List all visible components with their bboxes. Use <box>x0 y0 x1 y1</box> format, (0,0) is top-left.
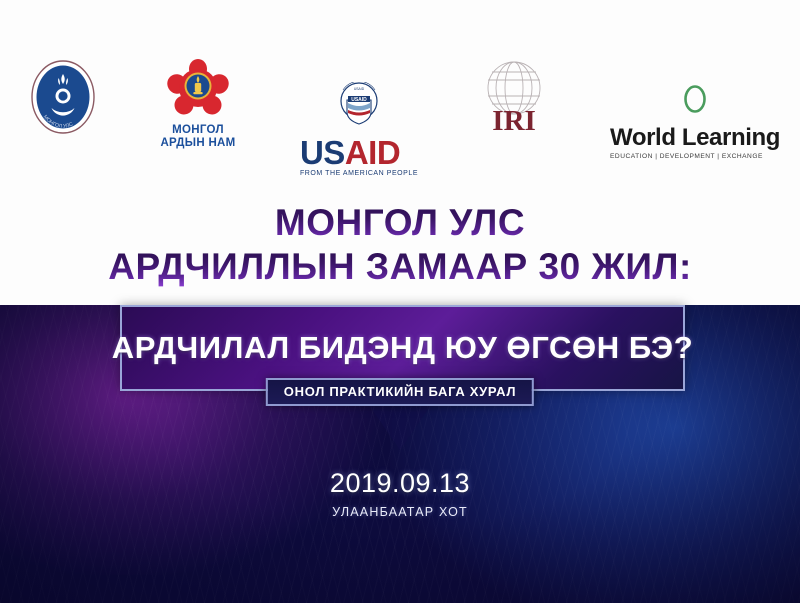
logo-mongolian-peoples-party: МОНГОЛ АРДЫН НАМ <box>153 58 243 150</box>
logo-president-seal: МОНГОЛ УЛС <box>30 58 96 136</box>
svg-text:USAID: USAID <box>351 97 367 103</box>
usaid-tagline: FROM THE AMERICAN PEOPLE <box>300 170 418 177</box>
world-learning-text-block: World Learning EDUCATION | DEVELOPMENT |… <box>610 126 780 160</box>
logo-band: МОНГОЛ УЛС <box>0 0 800 305</box>
mpp-label: МОНГОЛ АРДЫН НАМ <box>160 124 235 150</box>
usaid-shield-icon: USAID USAID <box>339 82 379 131</box>
sponsor-logo-row: МОНГОЛ УЛС <box>30 58 780 168</box>
world-learning-ring-icon <box>682 84 708 119</box>
headline-line-1: МОНГОЛ УЛС <box>0 204 800 243</box>
subtitle-text: АРДЧИЛАЛ БИДЭНД ЮУ ӨГСӨН БЭ? <box>112 330 693 366</box>
usaid-wordmark: USAID <box>300 138 418 168</box>
event-city: УЛААНБААТАР ХОТ <box>0 505 800 519</box>
mongolia-state-seal-icon: МОНГОЛ УЛС <box>30 58 96 136</box>
world-learning-wordmark: World Learning <box>610 126 780 150</box>
logo-world-learning: World Learning EDUCATION | DEVELOPMENT |… <box>610 58 780 160</box>
headline-line-2: АРДЧИЛЛЫН ЗАМААР 30 ЖИЛ: <box>0 248 800 287</box>
event-date: 2019.09.13 <box>0 468 800 499</box>
logo-iri: IRI <box>475 58 553 144</box>
conference-type-badge: ОНОЛ ПРАКТИКИЙН БАГА ХУРАЛ <box>266 378 534 406</box>
logo-usaid: USAID USAID USAID FROM THE AMERICAN PEOP… <box>300 58 418 177</box>
usaid-text-block: USAID FROM THE AMERICAN PEOPLE <box>300 138 418 177</box>
conference-poster: МОНГОЛ УЛС <box>0 0 800 603</box>
event-date-block: 2019.09.13 УЛААНБААТАР ХОТ <box>0 468 800 519</box>
conference-type-badge-label: ОНОЛ ПРАКТИКИЙН БАГА ХУРАЛ <box>284 384 516 399</box>
world-learning-tagline: EDUCATION | DEVELOPMENT | EXCHANGE <box>610 153 780 160</box>
poster-headline: МОНГОЛ УЛС АРДЧИЛЛЫН ЗАМААР 30 ЖИЛ: <box>0 204 800 287</box>
usaid-wordmark-us: US <box>300 134 345 171</box>
svg-text:USAID: USAID <box>354 87 365 91</box>
usaid-wordmark-aid: AID <box>345 134 400 171</box>
mpp-lotus-emblem-icon <box>167 58 229 121</box>
iri-wordmark: IRI <box>475 105 553 138</box>
